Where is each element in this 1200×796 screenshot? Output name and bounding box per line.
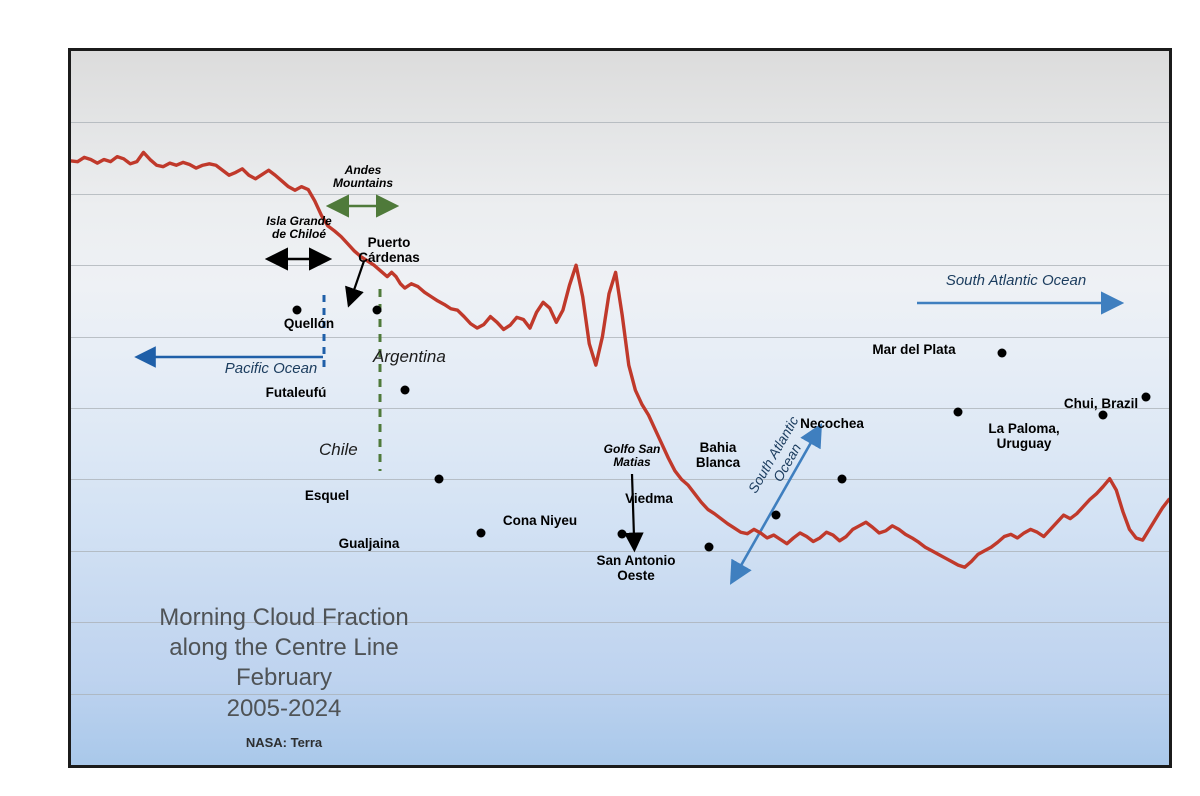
city-label-esquel: Esquel (277, 488, 377, 503)
y-axis: 1.00.90.80.70.60.50.40.30.20.10.0 (0, 0, 14, 796)
data-source-label: NASA: Terra (119, 735, 449, 750)
region-label-argentina: Argentina (373, 347, 446, 366)
feature-label-isla-grande-de-chiloe: Isla Grande de Chiloé (243, 215, 355, 242)
city-dot-cona-niyeu (618, 530, 627, 539)
region-label-chile: Chile (319, 440, 358, 459)
city-dot-la-paloma-uruguay (1099, 411, 1108, 420)
city-label-gualjaina: Gualjaina (314, 536, 424, 551)
feature-label-golfo-san-matias: Golfo San Matias (579, 443, 685, 470)
title-line-1: Morning Cloud Fraction (119, 603, 449, 633)
city-label-san-antonio-oeste: San Antonio Oeste (571, 553, 701, 583)
city-dot-necochea (954, 407, 963, 416)
city-dot-chui-brazil (1141, 393, 1150, 402)
title-line-4: 2005-2024 (119, 694, 449, 724)
ocean-label-pacific-ocean: Pacific Ocean (181, 361, 361, 378)
chart-root: 1.00.90.80.70.60.50.40.30.20.10.0 (0, 0, 1200, 796)
city-dot-esquel (435, 475, 444, 484)
city-dot-futaleuf (400, 386, 409, 395)
city-dot-mar-del-plata (998, 349, 1007, 358)
city-label-cona-niyeu: Cona Niyeu (477, 513, 603, 528)
chart-title-block: Morning Cloud Fraction along the Centre … (119, 603, 449, 750)
title-line-3: February (119, 663, 449, 693)
city-label-viedma: Viedma (594, 491, 704, 506)
city-dot-gualjaina (476, 528, 485, 537)
plot-area: Quellón Puerto Cárdenas Futaleufú Esquel… (68, 48, 1172, 768)
city-dot-viedma (771, 511, 780, 520)
feature-label-andes-mountains: Andes Mountains (307, 164, 419, 191)
city-dot-quell-n (292, 306, 301, 315)
city-label-futaleufu: Futaleufú (241, 385, 351, 400)
city-dot-san-antonio-oeste (705, 543, 714, 552)
city-dot-bahia-blanca (838, 474, 847, 483)
city-label-mar-del-plata: Mar del Plata (834, 342, 994, 357)
city-dot-puerto-c-rdenas (373, 306, 382, 315)
city-label-la-paloma-uruguay: La Paloma, Uruguay (959, 421, 1089, 451)
ocean-label-south-atlantic-ocean: South Atlantic Ocean (916, 273, 1116, 290)
title-line-2: along the Centre Line (119, 633, 449, 663)
city-label-quellon: Quellón (254, 316, 364, 331)
